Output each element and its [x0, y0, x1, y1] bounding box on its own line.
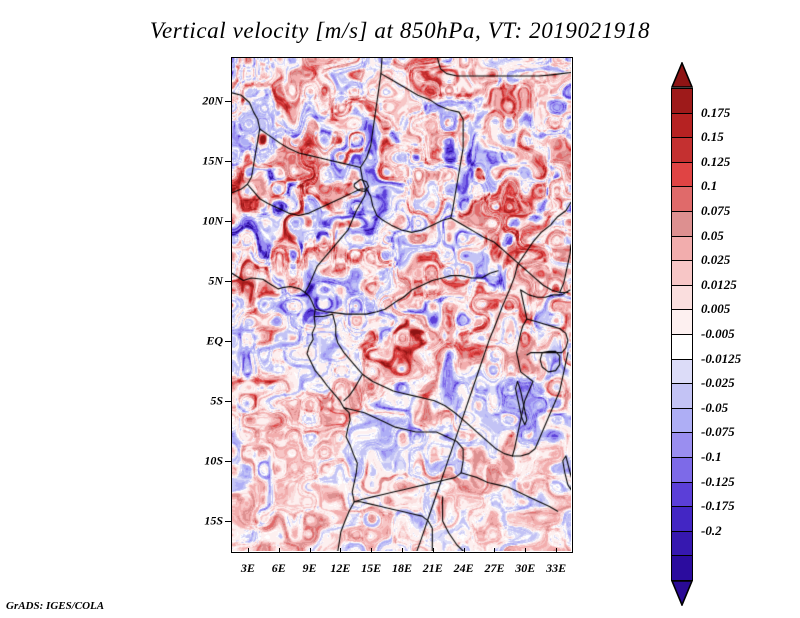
colorbar-band [671, 482, 693, 508]
longitude-tick-label: 3E [241, 561, 255, 576]
latitude-tick-mark [225, 401, 231, 402]
longitude-tick-mark [494, 548, 495, 553]
colorbar-tick-label: 0.125 [701, 154, 730, 170]
colorbar-band [671, 113, 693, 139]
latitude-tick-mark [225, 221, 231, 222]
colorbar-band [671, 531, 693, 557]
longitude-tick-label: 24E [454, 561, 474, 576]
colorbar-tick-label: -0.025 [701, 375, 735, 391]
colorbar-tick-label: -0.05 [701, 400, 728, 416]
colorbar-tick-label: 0.005 [701, 301, 730, 317]
colorbar-tick-label: -0.2 [701, 523, 722, 539]
colorbar-tick-label: -0.175 [701, 498, 735, 514]
colorbar-band [671, 162, 693, 188]
colorbar-tick-label: -0.005 [701, 326, 735, 342]
colorbar-band [671, 211, 693, 237]
longitude-tick-mark [402, 548, 403, 553]
colorbar-band [671, 359, 693, 385]
longitude-tick-mark [371, 548, 372, 553]
colorbar-band [671, 555, 693, 581]
latitude-tick-label: 10N [187, 213, 223, 228]
longitude-tick-mark [248, 548, 249, 553]
colorbar-tick-label: -0.125 [701, 474, 735, 490]
colorbar-tick-label: 0.075 [701, 203, 730, 219]
colorbar-tick-label: 0.175 [701, 105, 730, 121]
colorbar-tick-label: -0.0125 [701, 351, 741, 367]
grads-plot-page: Vertical velocity [m/s] at 850hPa, VT: 2… [0, 0, 800, 618]
colorbar-tick-label: 0.05 [701, 228, 724, 244]
latitude-tick-mark [225, 281, 231, 282]
longitude-tick-mark [279, 548, 280, 553]
longitude-tick-mark [433, 548, 434, 553]
colorbar-tick-label: 0.025 [701, 252, 730, 268]
colorbar-extend-top [671, 62, 693, 88]
latitude-tick-mark [225, 521, 231, 522]
colorbar-band [671, 88, 693, 114]
longitude-tick-mark [310, 548, 311, 553]
latitude-tick-label: 10S [187, 454, 223, 469]
longitude-tick-label: 21E [423, 561, 443, 576]
latitude-tick-label: 5S [187, 394, 223, 409]
colorbar-tick-label: -0.075 [701, 424, 735, 440]
latitude-tick-mark [225, 101, 231, 102]
latitude-tick-mark [225, 341, 231, 342]
country-borders-overlay [232, 58, 571, 551]
colorbar-band [671, 309, 693, 335]
longitude-tick-mark [525, 548, 526, 553]
colorbar-band [671, 334, 693, 360]
latitude-tick-label: 5N [187, 273, 223, 288]
longitude-tick-label: 27E [484, 561, 504, 576]
colorbar-band [671, 432, 693, 458]
colorbar-band [671, 186, 693, 212]
latitude-tick-label: 15N [187, 153, 223, 168]
longitude-tick-label: 30E [515, 561, 535, 576]
latitude-tick-label: 15S [187, 514, 223, 529]
page-title: Vertical velocity [m/s] at 850hPa, VT: 2… [0, 18, 800, 44]
colorbar-tick-label: 0.1 [701, 178, 717, 194]
colorbar-band [671, 408, 693, 434]
colorbar-tick-label: 0.0125 [701, 277, 737, 293]
longitude-tick-mark [556, 548, 557, 553]
colorbar-extend-bottom [671, 580, 693, 606]
colorbar-band [671, 236, 693, 262]
longitude-tick-label: 33E [546, 561, 566, 576]
grads-attribution: GrADS: IGES/COLA [6, 600, 104, 612]
latitude-tick-label: EQ [187, 334, 223, 349]
longitude-tick-label: 12E [330, 561, 350, 576]
colorbar-tick-label: 0.15 [701, 129, 724, 145]
longitude-tick-mark [464, 548, 465, 553]
longitude-tick-label: 9E [303, 561, 317, 576]
colorbar-band [671, 137, 693, 163]
latitude-tick-mark [225, 161, 231, 162]
latitude-tick-label: 20N [187, 93, 223, 108]
longitude-tick-label: 6E [272, 561, 286, 576]
map-plot-area [231, 57, 573, 553]
colorbar-band [671, 506, 693, 532]
latitude-tick-mark [225, 461, 231, 462]
longitude-tick-label: 15E [361, 561, 381, 576]
colorbar-tick-label: -0.1 [701, 449, 722, 465]
colorbar-band [671, 383, 693, 409]
colorbar-band [671, 285, 693, 311]
longitude-tick-mark [340, 548, 341, 553]
colorbar-band [671, 260, 693, 286]
longitude-tick-label: 18E [392, 561, 412, 576]
colorbar-band [671, 457, 693, 483]
